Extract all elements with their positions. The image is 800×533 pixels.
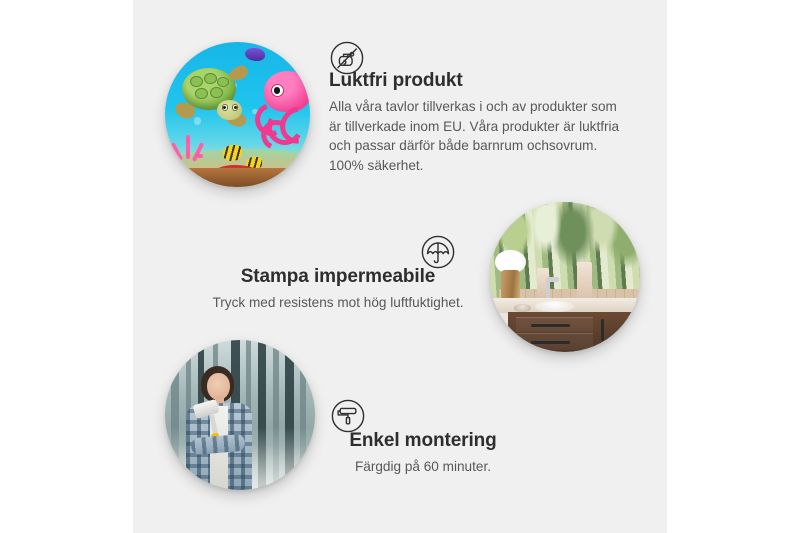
feature-title: Luktfri produkt: [329, 70, 621, 93]
feature-image-odour-free: [165, 42, 310, 187]
feature-title: Stampa impermeabile: [188, 266, 488, 289]
feature-copy-odour-free: Luktfri produkt Alla våra tavlor tillver…: [329, 70, 621, 176]
feature-title: Enkel montering: [273, 430, 573, 453]
content-panel: Luktfri produkt Alla våra tavlor tillver…: [133, 0, 667, 533]
page-root: Luktfri produkt Alla våra tavlor tillver…: [0, 0, 800, 533]
feature-body: Tryck med resistens mot hög luftfuktighe…: [188, 293, 488, 313]
feature-body: Färgdig på 60 minuter.: [273, 457, 573, 477]
feature-body: Alla våra tavlor tillverkas i och av pro…: [329, 97, 621, 176]
feature-block-odour-free: Luktfri produkt Alla våra tavlor tillver…: [133, 0, 667, 200]
feature-copy-easy-mounting: Enkel montering Färgdig på 60 minuter.: [273, 430, 573, 477]
feature-block-waterproof-print: Stampa impermeabile Tryck med resistens …: [133, 200, 667, 360]
bathroom-photo: [490, 202, 640, 352]
underwater-illustration: [165, 42, 310, 187]
feature-copy-waterproof-print: Stampa impermeabile Tryck med resistens …: [188, 266, 488, 313]
feature-image-waterproof-print: [490, 202, 640, 352]
feature-block-easy-mounting: Enkel montering Färgdig på 60 minuter.: [133, 340, 667, 533]
